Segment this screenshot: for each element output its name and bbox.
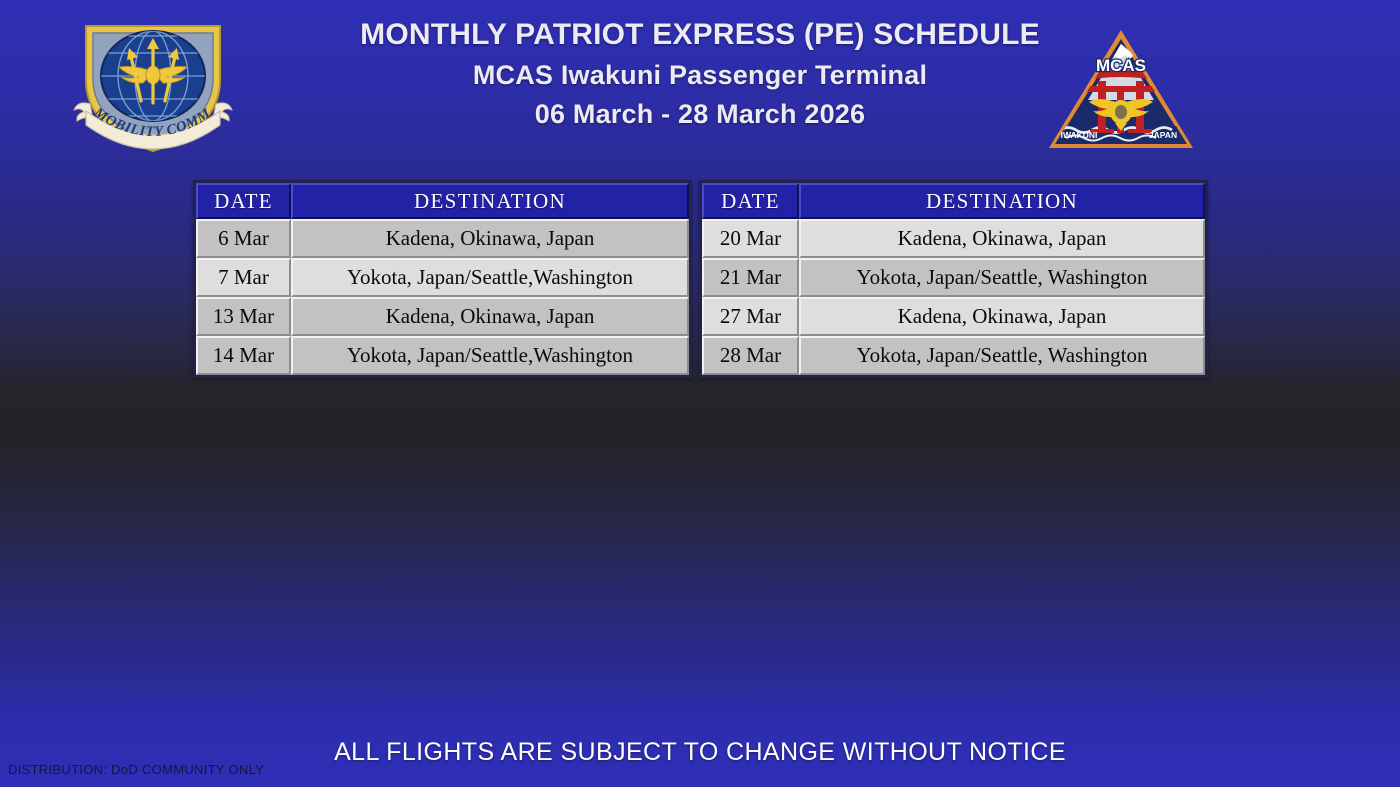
title-line-1: MONTHLY PATRIOT EXPRESS (PE) SCHEDULE — [280, 14, 1120, 56]
cell-date: 20 Mar — [702, 219, 799, 258]
table-row: 13 Mar Kadena, Okinawa, Japan — [196, 297, 689, 336]
cell-destination: Kadena, Okinawa, Japan — [291, 297, 689, 336]
table-header-row: DATE DESTINATION — [196, 183, 689, 219]
table-body: 20 Mar Kadena, Okinawa, Japan 21 Mar Yok… — [702, 219, 1205, 375]
cell-date: 28 Mar — [702, 336, 799, 375]
column-header-date: DATE — [702, 183, 799, 219]
column-header-destination: DESTINATION — [799, 183, 1205, 219]
mcas-japan-text: JAPAN — [1149, 130, 1177, 140]
table-row: 7 Mar Yokota, Japan/Seattle,Washington — [196, 258, 689, 297]
table-body: 6 Mar Kadena, Okinawa, Japan 7 Mar Yokot… — [196, 219, 689, 375]
column-header-date: DATE — [196, 183, 291, 219]
table-row: 27 Mar Kadena, Okinawa, Japan — [702, 297, 1205, 336]
mcas-top-text: MCAS — [1096, 56, 1146, 75]
table-row: 28 Mar Yokota, Japan/Seattle, Washington — [702, 336, 1205, 375]
cell-date: 13 Mar — [196, 297, 291, 336]
cell-destination: Yokota, Japan/Seattle,Washington — [291, 336, 689, 375]
cell-destination: Kadena, Okinawa, Japan — [799, 219, 1205, 258]
air-mobility-command-emblem: AIR MOBILITY COMMAND — [38, 8, 268, 163]
cell-date: 6 Mar — [196, 219, 291, 258]
cell-destination: Kadena, Okinawa, Japan — [799, 297, 1205, 336]
mcas-iwakuni-patch: MCAS IWAKUNI JAPAN — [1046, 26, 1196, 152]
page-title: MONTHLY PATRIOT EXPRESS (PE) SCHEDULE MC… — [280, 14, 1120, 134]
table-row: 6 Mar Kadena, Okinawa, Japan — [196, 219, 689, 258]
cell-date: 14 Mar — [196, 336, 291, 375]
table-row: 14 Mar Yokota, Japan/Seattle,Washington — [196, 336, 689, 375]
cell-date: 27 Mar — [702, 297, 799, 336]
distribution-statement: DISTRIBUTION: DoD COMMUNITY ONLY — [8, 762, 264, 777]
cell-date: 21 Mar — [702, 258, 799, 297]
cell-destination: Yokota, Japan/Seattle, Washington — [799, 258, 1205, 297]
schedule-table-first-half: DATE DESTINATION 6 Mar Kadena, Okinawa, … — [193, 180, 692, 378]
table-row: 20 Mar Kadena, Okinawa, Japan — [702, 219, 1205, 258]
mcas-iwakuni-text: IWAKUNI — [1061, 130, 1098, 140]
column-header-destination: DESTINATION — [291, 183, 689, 219]
title-line-3: 06 March - 28 March 2026 — [280, 95, 1120, 134]
cell-destination: Yokota, Japan/Seattle, Washington — [799, 336, 1205, 375]
table-row: 21 Mar Yokota, Japan/Seattle, Washington — [702, 258, 1205, 297]
slide-canvas: AIR MOBILITY COMMAND MONTHLY PATRIOT EXP… — [0, 0, 1400, 787]
cell-destination: Kadena, Okinawa, Japan — [291, 219, 689, 258]
cell-destination: Yokota, Japan/Seattle,Washington — [291, 258, 689, 297]
title-line-2: MCAS Iwakuni Passenger Terminal — [280, 56, 1120, 95]
cell-date: 7 Mar — [196, 258, 291, 297]
schedule-table-second-half: DATE DESTINATION 20 Mar Kadena, Okinawa,… — [699, 180, 1208, 378]
table-header-row: DATE DESTINATION — [702, 183, 1205, 219]
